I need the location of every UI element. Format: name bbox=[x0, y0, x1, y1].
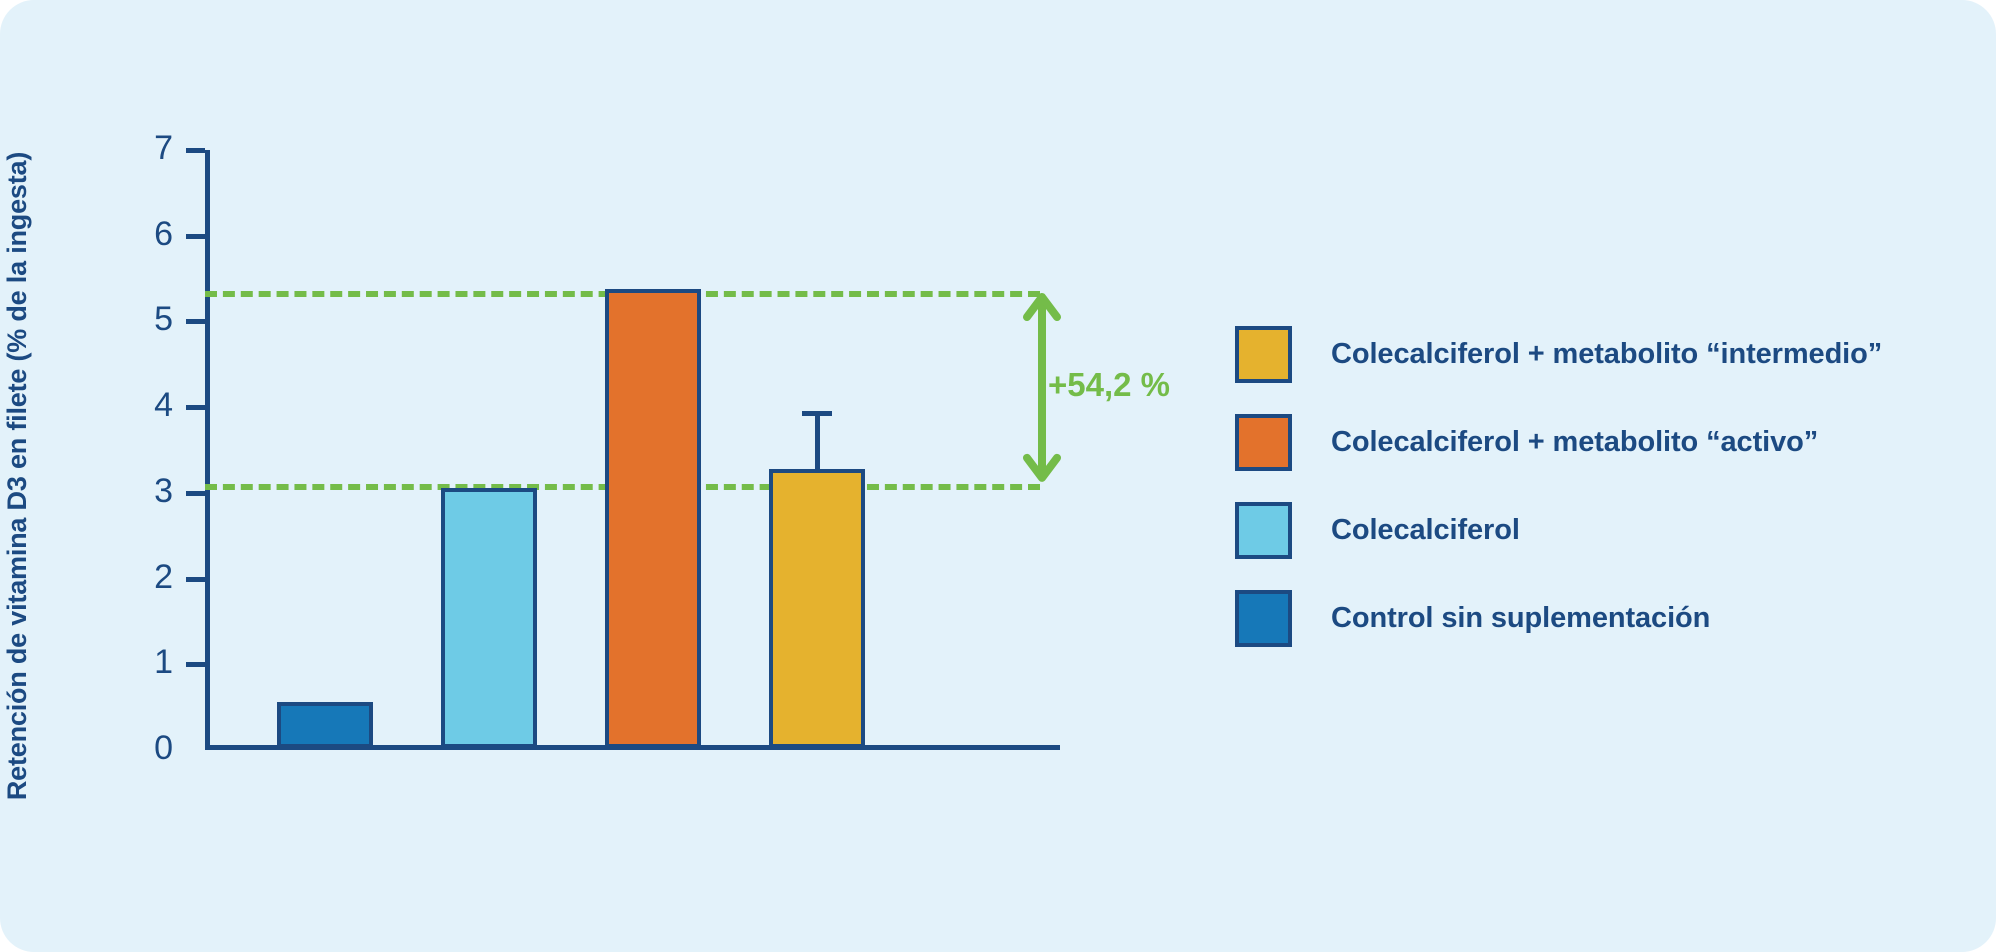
bar bbox=[441, 488, 537, 748]
bar bbox=[605, 289, 701, 748]
y-axis-tick bbox=[186, 319, 205, 324]
error-bar-cap bbox=[802, 411, 832, 416]
y-axis-tick bbox=[186, 577, 205, 582]
y-axis-tick bbox=[186, 662, 205, 667]
plot-area: 76543210 bbox=[205, 150, 1060, 750]
legend-item[interactable]: Control sin suplementación bbox=[1235, 574, 1955, 662]
legend-item[interactable]: Colecalciferol + metabolito “activo” bbox=[1235, 398, 1955, 486]
bar bbox=[769, 469, 865, 748]
y-axis-tick bbox=[186, 491, 205, 496]
legend-item[interactable]: Colecalciferol bbox=[1235, 486, 1955, 574]
y-axis-tick-label: 5 bbox=[113, 302, 173, 336]
y-axis-title: Retención de vitamina D3 en filete (% de… bbox=[0, 0, 66, 952]
y-axis-tick bbox=[186, 405, 205, 410]
legend-item-label: Control sin suplementación bbox=[1331, 602, 1710, 635]
bar bbox=[277, 702, 373, 748]
y-axis-tick-label: 2 bbox=[113, 560, 173, 594]
legend-color-swatch bbox=[1235, 414, 1292, 471]
y-axis-tick-label: 1 bbox=[113, 645, 173, 679]
y-axis-tick-label: 6 bbox=[113, 217, 173, 251]
error-bar-stem bbox=[815, 411, 820, 471]
legend-item-label: Colecalciferol + metabolito “activo” bbox=[1331, 426, 1818, 459]
legend-item-label: Colecalciferol + metabolito “intermedio” bbox=[1331, 338, 1882, 371]
y-axis-tick-label: 3 bbox=[113, 474, 173, 508]
y-axis-tick bbox=[186, 148, 205, 153]
y-axis-tick-label: 7 bbox=[113, 131, 173, 165]
y-axis-title-text: Retención de vitamina D3 en filete (% de… bbox=[2, 152, 33, 800]
y-axis-tick bbox=[186, 234, 205, 239]
y-axis-tick-labels: 76543210 bbox=[113, 150, 173, 750]
legend-item-label: Colecalciferol bbox=[1331, 514, 1520, 547]
y-axis-tick-label: 4 bbox=[113, 388, 173, 422]
percent-increase-label: +54,2 % bbox=[1048, 366, 1170, 404]
legend: Colecalciferol + metabolito “intermedio”… bbox=[1235, 310, 1955, 662]
legend-item[interactable]: Colecalciferol + metabolito “intermedio” bbox=[1235, 310, 1955, 398]
legend-color-swatch bbox=[1235, 326, 1292, 383]
y-axis-line bbox=[205, 150, 210, 750]
chart-figure: Retención de vitamina D3 en filete (% de… bbox=[0, 0, 1996, 952]
legend-color-swatch bbox=[1235, 590, 1292, 647]
legend-color-swatch bbox=[1235, 502, 1292, 559]
y-axis-tick-label: 0 bbox=[113, 731, 173, 765]
